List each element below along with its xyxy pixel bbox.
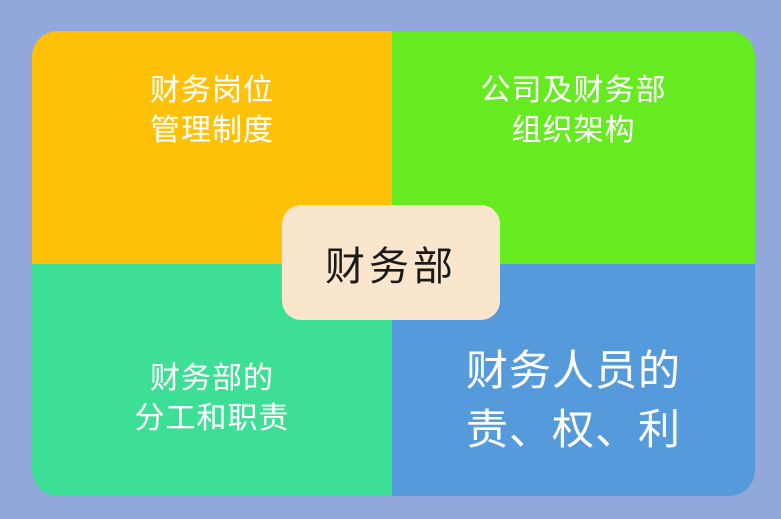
quadrant-rights-line-1: 财务人员的 (466, 342, 681, 401)
quadrant-structure-line-1: 公司及财务部 (481, 71, 667, 111)
center-hub-label: 财务部 (325, 234, 457, 292)
quadrant-rights-line-2: 责、权、利 (466, 401, 681, 460)
quadrant-policy-line-2: 管理制度 (150, 111, 274, 151)
quadrant-duties-text: 财务部的 分工和职责 (135, 359, 290, 439)
quadrant-duties-line-1: 财务部的 (135, 359, 290, 399)
quadrant-policy-line-1: 财务岗位 (150, 71, 274, 111)
quadrant-rights-text: 财务人员的 责、权、利 (466, 342, 681, 460)
quadrant-duties-line-2: 分工和职责 (135, 399, 290, 439)
quadrant-structure-text: 公司及财务部 组织架构 (481, 71, 667, 151)
diagram-canvas: 财务岗位 管理制度 公司及财务部 组织架构 财务部的 分工和职责 财务人员的 责… (0, 0, 781, 519)
quadrant-policy-text: 财务岗位 管理制度 (150, 71, 274, 151)
center-hub-box[interactable]: 财务部 (282, 205, 500, 320)
quadrant-structure-line-2: 组织架构 (481, 111, 667, 151)
